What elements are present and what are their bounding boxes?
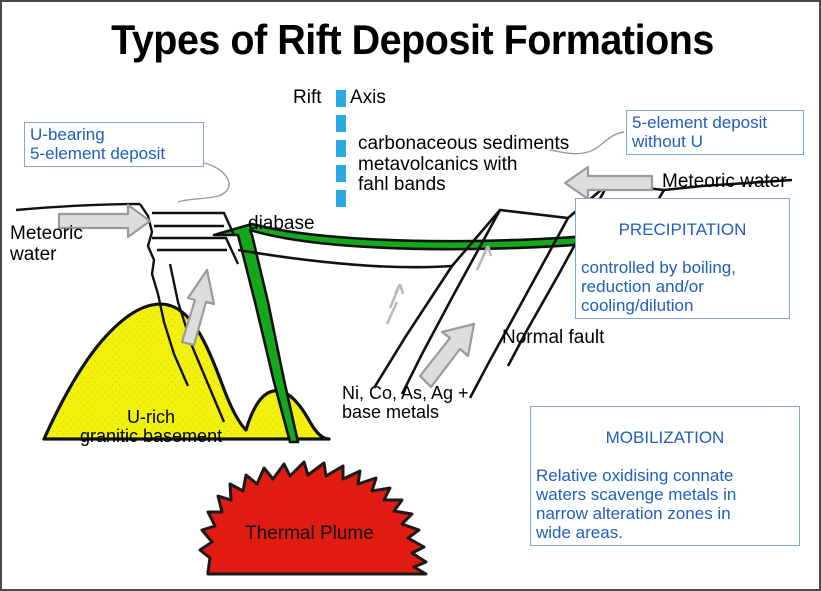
callout-mobilization-heading: MOBILIZATION <box>536 428 794 447</box>
upflow-arrow-icon <box>182 270 214 345</box>
thermal-plume-body <box>200 462 426 574</box>
label-carbonaceous-sediments: carbonaceous sediments metavolcanics wit… <box>358 134 569 196</box>
slide-canvas: Types of Rift Deposit Formations <box>0 0 821 591</box>
label-metals: Ni, Co, As, Ag + base metals <box>342 384 469 423</box>
callout-mobilization-body: Relative oxidising connate waters scaven… <box>536 466 736 542</box>
callout-precipitation-heading: PRECIPITATION <box>581 220 784 239</box>
callout-mobilization[interactable]: MOBILIZATION Relative oxidising connate … <box>530 406 800 546</box>
callout-precipitation-body: controlled by boiling, reduction and/or … <box>581 258 736 315</box>
callout-u-bearing-deposit[interactable]: U-bearing 5-element deposit <box>24 122 204 167</box>
meteoric-water-right-arrow-icon <box>565 167 652 199</box>
label-normal-fault: Normal fault <box>502 328 604 349</box>
label-rift: Rift <box>293 88 322 109</box>
fault-upflow-arrow-icon <box>420 324 474 387</box>
callout-precipitation[interactable]: PRECIPITATION controlled by boiling, red… <box>575 198 790 319</box>
rift-axis-icon <box>336 90 346 207</box>
label-meteoric-water-left: Meteoric water <box>10 224 83 265</box>
label-thermal-plume: Thermal Plume <box>245 523 374 545</box>
callout-deposit-without-u[interactable]: 5-element deposit without U <box>626 110 804 155</box>
label-axis: Axis <box>350 88 386 109</box>
label-granitic-basement: U-rich granitic basement <box>80 408 222 447</box>
label-meteoric-water-right: Meteoric water <box>662 172 787 193</box>
label-diabase: diabase <box>248 214 315 235</box>
